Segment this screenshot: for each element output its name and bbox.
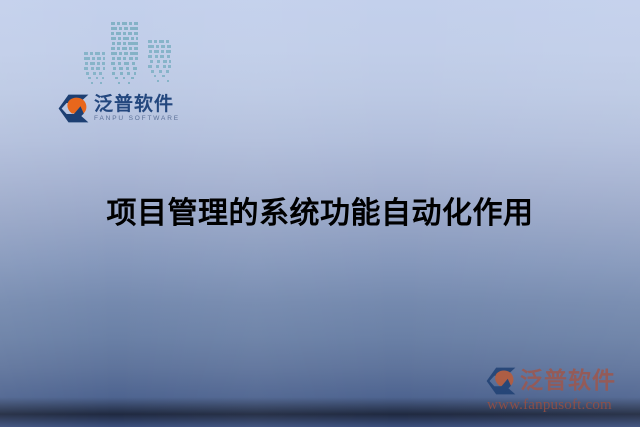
brand-block: 泛普软件 FANPU SOFTWARE	[58, 22, 183, 132]
slide-canvas: 泛普软件 FANPU SOFTWARE 项目管理的系统功能自动化作用 泛普软件 …	[0, 0, 640, 427]
pixel-buildings-icon	[84, 22, 180, 88]
fanpu-logo: 泛普软件 FANPU SOFTWARE	[58, 94, 180, 123]
fanpu-watermark-mark-icon	[486, 367, 516, 395]
logo-company-name-en: FANPU SOFTWARE	[94, 116, 180, 123]
watermark-company-name: 泛普软件	[520, 370, 616, 393]
watermark-logo: 泛普软件	[486, 367, 616, 395]
logo-company-name-cn: 泛普软件	[94, 95, 180, 114]
page-title: 项目管理的系统功能自动化作用	[0, 196, 640, 232]
site-watermark: 泛普软件 www.fanpusoft.com	[486, 367, 634, 419]
fanpu-logo-mark-icon	[58, 94, 89, 123]
watermark-url: www.fanpusoft.com	[487, 398, 612, 413]
